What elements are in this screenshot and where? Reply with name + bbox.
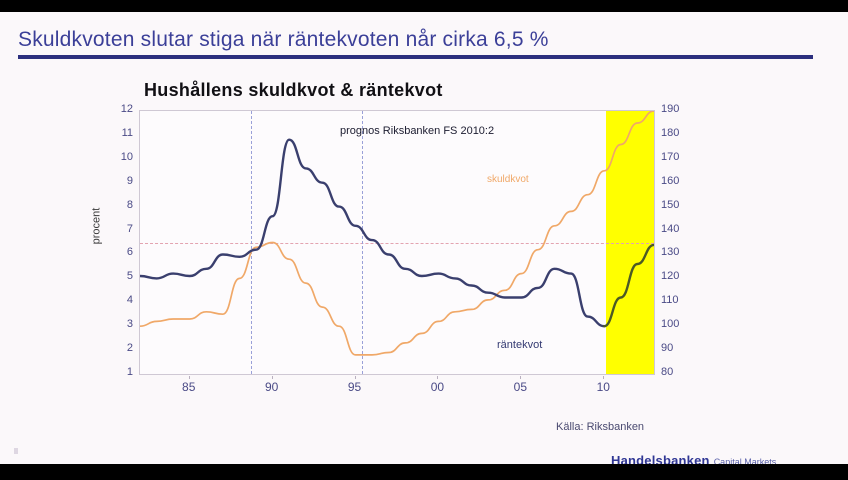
x-tick-mark bbox=[272, 376, 273, 379]
y-tick-left: 7 bbox=[107, 223, 133, 235]
x-tick-mark bbox=[189, 376, 190, 379]
series-line-rantekvot-historical bbox=[140, 140, 604, 327]
y-tick-left: 8 bbox=[107, 199, 133, 211]
plot-area bbox=[139, 110, 655, 375]
y-tick-right: 150 bbox=[661, 199, 695, 211]
y-tick-right: 110 bbox=[661, 294, 695, 306]
x-tick: 90 bbox=[265, 380, 278, 394]
plot-series-svg bbox=[140, 111, 654, 374]
y-tick-right: 170 bbox=[661, 151, 695, 163]
x-axis: 859095000510 bbox=[139, 380, 655, 398]
y-tick-right: 180 bbox=[661, 127, 695, 139]
y-tick-right: 130 bbox=[661, 246, 695, 258]
y-axis-right: 1901801701601501401301201101009080 bbox=[661, 110, 695, 375]
y-axis-label: procent bbox=[90, 208, 102, 245]
x-tick-mark bbox=[355, 376, 356, 379]
x-tick-mark bbox=[520, 376, 521, 379]
letterbox-top-bar bbox=[0, 0, 848, 12]
x-tick-mark bbox=[437, 376, 438, 379]
x-tick: 85 bbox=[182, 380, 195, 394]
x-tick: 05 bbox=[514, 380, 527, 394]
y-tick-right: 190 bbox=[661, 103, 695, 115]
x-tick: 00 bbox=[431, 380, 444, 394]
y-tick-left: 11 bbox=[107, 127, 133, 139]
slide-body: Skuldkvoten slutar stiga när räntekvoten… bbox=[0, 12, 848, 464]
x-tick: 95 bbox=[348, 380, 361, 394]
y-tick-left: 5 bbox=[107, 270, 133, 282]
corner-mark bbox=[14, 448, 18, 454]
y-tick-right: 80 bbox=[661, 366, 695, 378]
y-tick-right: 90 bbox=[661, 342, 695, 354]
series-label-skuldkvot: skuldkvot bbox=[487, 174, 529, 185]
y-tick-left: 1 bbox=[107, 366, 133, 378]
x-tick-mark bbox=[603, 376, 604, 379]
letterbox-bottom-bar bbox=[0, 464, 848, 480]
series-label-rantekvot: räntekvot bbox=[497, 339, 542, 351]
y-tick-left: 10 bbox=[107, 151, 133, 163]
x-tick: 10 bbox=[597, 380, 610, 394]
chart-container: Hushållens skuldkvot & räntekvot procent… bbox=[0, 12, 848, 464]
y-tick-left: 3 bbox=[107, 318, 133, 330]
y-tick-left: 2 bbox=[107, 342, 133, 354]
series-line-rantekvot-forecast bbox=[604, 245, 654, 326]
y-axis-left: 121110987654321 bbox=[107, 110, 133, 375]
y-tick-right: 140 bbox=[661, 223, 695, 235]
y-tick-right: 100 bbox=[661, 318, 695, 330]
chart-title: Hushållens skuldkvot & räntekvot bbox=[144, 80, 443, 101]
series-line-skuldkvot bbox=[140, 111, 654, 355]
source-note: Källa: Riksbanken bbox=[556, 421, 644, 433]
y-tick-right: 120 bbox=[661, 270, 695, 282]
forecast-annotation: prognos Riksbanken FS 2010:2 bbox=[340, 125, 494, 137]
y-tick-right: 160 bbox=[661, 175, 695, 187]
y-tick-left: 12 bbox=[107, 103, 133, 115]
slide-root: Skuldkvoten slutar stiga när räntekvoten… bbox=[0, 0, 848, 480]
y-tick-left: 4 bbox=[107, 294, 133, 306]
y-tick-left: 9 bbox=[107, 175, 133, 187]
y-tick-left: 6 bbox=[107, 246, 133, 258]
